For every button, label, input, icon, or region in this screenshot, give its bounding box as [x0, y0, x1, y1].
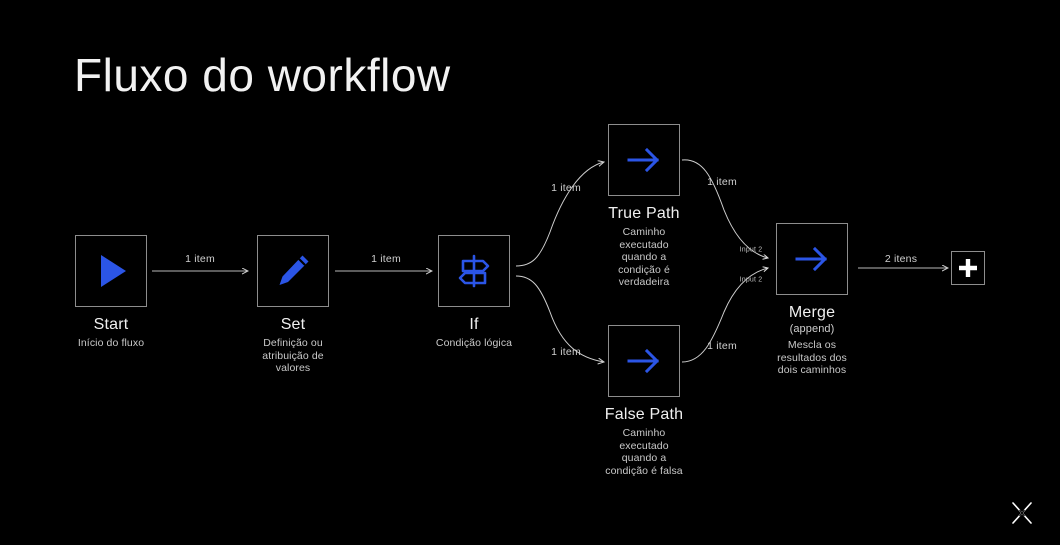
play-icon	[88, 248, 134, 294]
node-merge-title: Merge	[742, 304, 882, 322]
node-start-title: Start	[41, 316, 181, 334]
node-if[interactable]: If Condição lógica	[404, 235, 544, 350]
node-false-path[interactable]: False Path Caminho executado quando a co…	[574, 325, 714, 477]
node-if-description: Condição lógica	[404, 337, 544, 350]
arrow-right-icon	[620, 136, 668, 184]
node-set-description: Definição ou atribuição de valores	[223, 337, 363, 375]
arrow-right-icon	[620, 337, 668, 385]
node-true-path-description: Caminho executado quando a condição é ve…	[574, 226, 714, 289]
node-true-path-title: True Path	[574, 205, 714, 223]
edge-label-start-to-set: 1 item	[185, 253, 215, 265]
signpost-icon	[452, 249, 496, 293]
node-end-plus[interactable]	[898, 251, 1038, 285]
node-set-box[interactable]	[257, 235, 329, 307]
node-if-title: If	[404, 316, 544, 334]
arrow-right-icon	[788, 235, 836, 283]
slide-canvas: Fluxo do workflow	[0, 0, 1060, 545]
node-true-path-box[interactable]	[608, 124, 680, 196]
node-end-plus-box[interactable]	[951, 251, 985, 285]
node-merge[interactable]: Merge (append) Mescla os resultados dos …	[742, 223, 882, 377]
node-false-path-box[interactable]	[608, 325, 680, 397]
node-start[interactable]: Start Início do fluxo	[41, 235, 181, 350]
node-merge-subtitle: (append)	[742, 323, 882, 336]
node-merge-description: Mescla os resultados dos dois caminhos	[742, 339, 882, 377]
edge-label-set-to-if: 1 item	[371, 253, 401, 265]
node-merge-box[interactable]	[776, 223, 848, 295]
node-if-box[interactable]	[438, 235, 510, 307]
pencil-icon	[270, 248, 316, 294]
node-start-box[interactable]	[75, 235, 147, 307]
node-false-path-description: Caminho executado quando a condição é fa…	[574, 427, 714, 477]
node-false-path-title: False Path	[574, 406, 714, 424]
workflow-diagram: 1 item 1 item 1 item 1 item 1 item 1 ite…	[0, 0, 1060, 545]
node-true-path[interactable]: True Path Caminho executado quando a con…	[574, 124, 714, 289]
node-start-description: Início do fluxo	[41, 337, 181, 350]
node-set[interactable]: Set Definição ou atribuição de valores	[223, 235, 363, 375]
node-set-title: Set	[223, 316, 363, 334]
plus-icon	[957, 257, 979, 279]
x-logo	[1008, 499, 1036, 527]
